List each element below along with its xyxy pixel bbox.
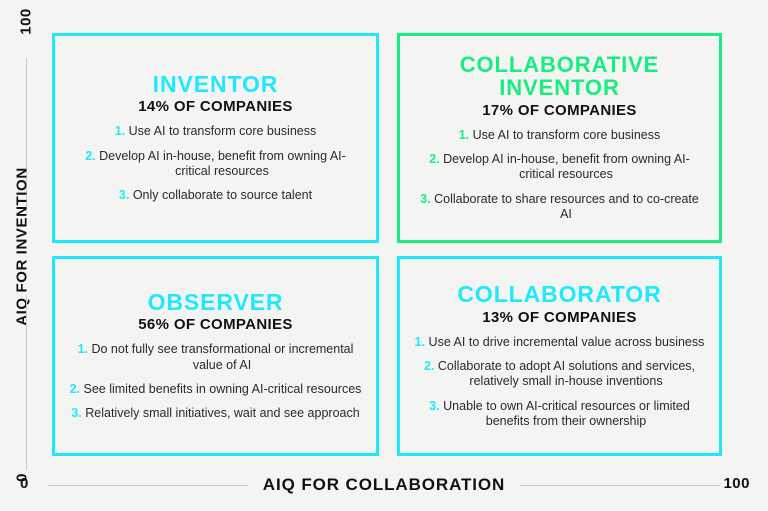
- quadrant-collaborator-title: COLLABORATOR: [414, 283, 705, 307]
- quadrant-observer[interactable]: OBSERVER 56% OF COMPANIES 1. Do not full…: [52, 256, 379, 456]
- x-axis-line-right: [520, 485, 720, 486]
- list-item-text: Collaborate to adopt AI solutions and se…: [438, 359, 695, 388]
- list-item-number: 3.: [119, 188, 129, 202]
- x-axis: 0 AIQ FOR COLLABORATION 100: [0, 475, 768, 497]
- list-item-text: Develop AI in-house, benefit from owning…: [443, 152, 690, 181]
- y-axis: 100 AIQ FOR INVENTION 0: [0, 0, 52, 470]
- quadrant-observer-title: OBSERVER: [69, 291, 362, 315]
- list-item-number: 3.: [429, 399, 439, 413]
- list-item: 1. Do not fully see transformational or …: [69, 342, 362, 373]
- list-item-text: Develop AI in-house, benefit from owning…: [99, 149, 346, 178]
- y-axis-max-label: 100: [18, 0, 35, 52]
- list-item-text: Use AI to transform core business: [129, 124, 317, 138]
- list-item-text: Unable to own AI-critical resources or l…: [443, 399, 690, 428]
- list-item: 3. Only collaborate to source talent: [69, 188, 362, 203]
- quadrant-collaborator-list: 1. Use AI to drive incremental value acr…: [414, 335, 705, 429]
- list-item: 1. Use AI to transform core business: [69, 124, 362, 139]
- list-item: 2. Develop AI in-house, benefit from own…: [69, 149, 362, 180]
- y-axis-line-lower: [26, 295, 27, 470]
- list-item: 1. Use AI to drive incremental value acr…: [414, 335, 705, 350]
- list-item-number: 3.: [71, 406, 81, 420]
- list-item: 3. Relatively small initiatives, wait an…: [69, 406, 362, 421]
- quadrant-observer-subtitle: 56% OF COMPANIES: [69, 316, 362, 333]
- quadrant-collaborative-inventor[interactable]: COLLABORATIVE INVENTOR 17% OF COMPANIES …: [397, 33, 722, 243]
- list-item-number: 1.: [115, 124, 125, 138]
- list-item-text: Use AI to drive incremental value across…: [429, 335, 705, 349]
- list-item-number: 3.: [420, 192, 430, 206]
- list-item: 2. Collaborate to adopt AI solutions and…: [414, 359, 705, 390]
- list-item: 3. Unable to own AI-critical resources o…: [414, 399, 705, 430]
- list-item-text: Relatively small initiatives, wait and s…: [85, 406, 359, 420]
- list-item-number: 2.: [424, 359, 434, 373]
- quadrant-inventor-title: INVENTOR: [69, 73, 362, 97]
- quadrant-observer-list: 1. Do not fully see transformational or …: [69, 342, 362, 421]
- list-item-text: Use AI to transform core business: [473, 128, 661, 142]
- quadrant-inventor-subtitle: 14% OF COMPANIES: [69, 98, 362, 115]
- list-item-number: 1.: [415, 335, 425, 349]
- x-axis-max-label: 100: [723, 475, 750, 492]
- quadrant-inventor-list: 1. Use AI to transform core business 2. …: [69, 124, 362, 203]
- quadrant-inventor[interactable]: INVENTOR 14% OF COMPANIES 1. Use AI to t…: [52, 33, 379, 243]
- list-item: 2. See limited benefits in owning AI-cri…: [69, 382, 362, 397]
- list-item-text: Collaborate to share resources and to co…: [434, 192, 699, 221]
- list-item-number: 1.: [78, 342, 88, 356]
- aiq-matrix-chart: 100 AIQ FOR INVENTION 0 INVENTOR 14% OF …: [0, 0, 768, 511]
- quadrant-collaborator-subtitle: 13% OF COMPANIES: [414, 309, 705, 326]
- list-item-number: 2.: [70, 382, 80, 396]
- quadrant-observer-body: OBSERVER 56% OF COMPANIES 1. Do not full…: [55, 291, 376, 422]
- list-item: 3. Collaborate to share resources and to…: [414, 192, 705, 223]
- quadrant-collaborative-inventor-subtitle: 17% OF COMPANIES: [414, 102, 705, 119]
- quadrant-collaborative-inventor-list: 1. Use AI to transform core business 2. …: [414, 128, 705, 222]
- quadrant-collaborative-inventor-body: COLLABORATIVE INVENTOR 17% OF COMPANIES …: [400, 54, 719, 222]
- list-item-number: 1.: [459, 128, 469, 142]
- y-axis-title: AIQ FOR INVENTION: [14, 127, 31, 367]
- list-item-number: 2.: [85, 149, 95, 163]
- list-item-text: Do not fully see transformational or inc…: [91, 342, 353, 371]
- quadrant-inventor-body: INVENTOR 14% OF COMPANIES 1. Use AI to t…: [55, 73, 376, 204]
- list-item: 1. Use AI to transform core business: [414, 128, 705, 143]
- list-item-text: Only collaborate to source talent: [133, 188, 312, 202]
- list-item-number: 2.: [429, 152, 439, 166]
- list-item: 2. Develop AI in-house, benefit from own…: [414, 152, 705, 183]
- quadrant-collaborative-inventor-title: COLLABORATIVE INVENTOR: [414, 54, 705, 100]
- list-item-text: See limited benefits in owning AI-critic…: [84, 382, 362, 396]
- quadrant-collaborator[interactable]: COLLABORATOR 13% OF COMPANIES 1. Use AI …: [397, 256, 722, 456]
- quadrant-collaborator-body: COLLABORATOR 13% OF COMPANIES 1. Use AI …: [400, 283, 719, 429]
